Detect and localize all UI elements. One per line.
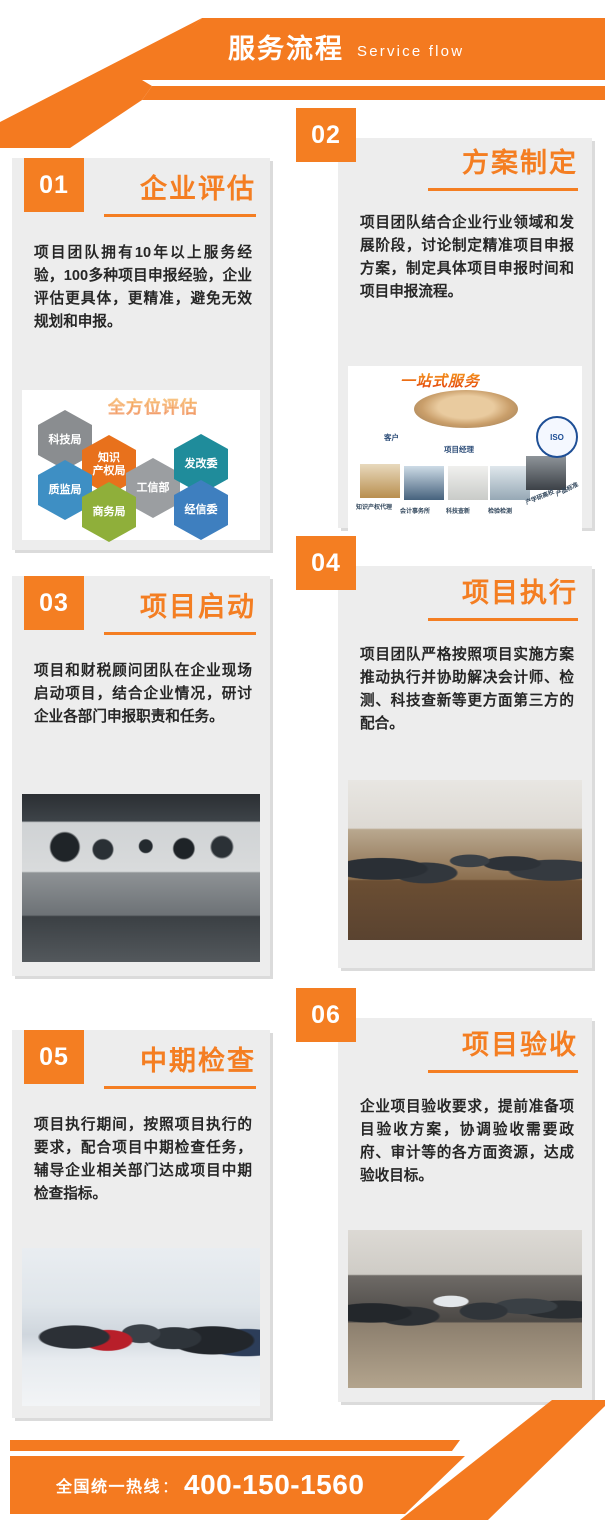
service-node-photo-3 bbox=[448, 466, 488, 500]
service-node-photo-5 bbox=[526, 456, 566, 490]
title-underline bbox=[104, 632, 256, 635]
service-label-customer: 客户 bbox=[384, 432, 399, 443]
title-underline bbox=[104, 1086, 256, 1089]
showroom-visit-photo bbox=[22, 1248, 260, 1406]
service-diagram-title: 一站式服务 bbox=[400, 370, 480, 391]
card-title: 中期检查 bbox=[140, 1048, 256, 1075]
hotline-colon: ： bbox=[162, 1473, 178, 1497]
footer-hotline-group: 全国统一热线 ： 400-150-1560 bbox=[56, 1456, 364, 1514]
service-caption-inspection: 检验检测 bbox=[488, 506, 512, 515]
card-description: 企业项目验收要求，提前准备项目验收方案，协调验收需要政府、审计等的各方面资源，达… bbox=[360, 1096, 574, 1188]
boardroom-meeting-photo bbox=[348, 1230, 582, 1388]
hex-diagram-title: 全方位评估 bbox=[108, 393, 198, 418]
card-description: 项目执行期间，按照项目执行的要求，配合项目中期检查任务，辅导企业相关部门达成项目… bbox=[34, 1114, 252, 1206]
card-description: 项目团队严格按照项目实施方案推动执行并协助解决会计师、检测、科技查新等更方面第三… bbox=[360, 644, 574, 736]
meeting-room-photo bbox=[22, 794, 260, 962]
step-number-badge: 02 bbox=[296, 108, 356, 162]
step-number-badge: 06 bbox=[296, 988, 356, 1042]
page-footer: 全国统一热线 ： 400-150-1560 bbox=[0, 1400, 605, 1538]
service-label-project-manager: 项目经理 bbox=[444, 444, 474, 455]
card-title: 企业评估 bbox=[140, 176, 256, 203]
card-title: 项目启动 bbox=[140, 594, 256, 621]
conference-working-photo bbox=[348, 780, 582, 940]
process-card-04[interactable]: 04 项目执行 项目团队严格按照项目实施方案推动执行并协助解决会计师、检测、科技… bbox=[338, 566, 592, 968]
card-title: 项目执行 bbox=[462, 580, 578, 607]
hexagon-assessment-diagram: 全方位评估 科技局 知识产权局 质监局 工信部 商务局 发改委 经信委 bbox=[22, 390, 260, 540]
card-title: 方案制定 bbox=[462, 150, 578, 177]
one-stop-service-diagram: 一站式服务 客户 项目经理 ISO 知识产权代理 会计事务所 科技查新 检验检测… bbox=[348, 366, 582, 534]
step-number-badge: 04 bbox=[296, 536, 356, 590]
card-description: 项目和财税顾问团队在企业现场启动项目，结合企业情况，研讨企业各部门申报职责和任务… bbox=[34, 660, 252, 729]
card-description: 项目团队拥有10年以上服务经验，100多种项目申报经验，企业评估更具体，更精准，… bbox=[34, 242, 252, 334]
hex-node-ip-bureau-label: 知识产权局 bbox=[93, 452, 126, 477]
step-number-badge: 03 bbox=[24, 576, 84, 630]
process-card-05[interactable]: 05 中期检查 项目执行期间，按照项目执行的要求，配合项目中期检查任务，辅导企业… bbox=[12, 1030, 270, 1418]
hotline-label: 全国统一热线 bbox=[56, 1473, 161, 1497]
service-hero-photo bbox=[414, 390, 518, 428]
service-node-photo-1 bbox=[360, 464, 400, 498]
process-card-03[interactable]: 03 项目启动 项目和财税顾问团队在企业现场启动项目，结合企业情况，研讨企业各部… bbox=[12, 576, 270, 976]
title-underline bbox=[428, 188, 578, 191]
process-card-01[interactable]: 01 企业评估 项目团队拥有10年以上服务经验，100多种项目申报经验，企业评估… bbox=[12, 158, 270, 550]
card-description: 项目团队结合企业行业领域和发展阶段，讨论制定精准项目申报方案，制定具体项目申报时… bbox=[360, 212, 574, 304]
step-number-badge: 01 bbox=[24, 158, 84, 212]
hex-node-economic-info: 经信委 bbox=[174, 480, 228, 540]
page-title: 服务流程 bbox=[228, 36, 344, 63]
card-title: 项目验收 bbox=[462, 1032, 578, 1059]
step-number-badge: 05 bbox=[24, 1030, 84, 1084]
iso-badge-icon: ISO bbox=[536, 416, 578, 458]
title-underline bbox=[104, 214, 256, 217]
process-card-02[interactable]: 02 方案制定 项目团队结合企业行业领域和发展阶段，讨论制定精准项目申报方案，制… bbox=[338, 138, 592, 528]
service-caption-ip-agency: 知识产权代理 bbox=[356, 502, 392, 511]
service-caption-accounting: 会计事务所 bbox=[400, 506, 430, 515]
service-node-photo-4 bbox=[490, 466, 530, 500]
title-underline bbox=[428, 618, 578, 621]
header-title-group: 服务流程 Service flow bbox=[0, 18, 605, 80]
title-underline bbox=[428, 1070, 578, 1073]
hotline-number[interactable]: 400-150-1560 bbox=[184, 1469, 364, 1501]
service-caption-tech-search: 科技查新 bbox=[446, 506, 470, 515]
service-node-photo-2 bbox=[404, 466, 444, 500]
process-card-06[interactable]: 06 项目验收 企业项目验收要求，提前准备项目验收方案，协调验收需要政府、审计等… bbox=[338, 1018, 592, 1402]
page-subtitle: Service flow bbox=[357, 44, 464, 59]
